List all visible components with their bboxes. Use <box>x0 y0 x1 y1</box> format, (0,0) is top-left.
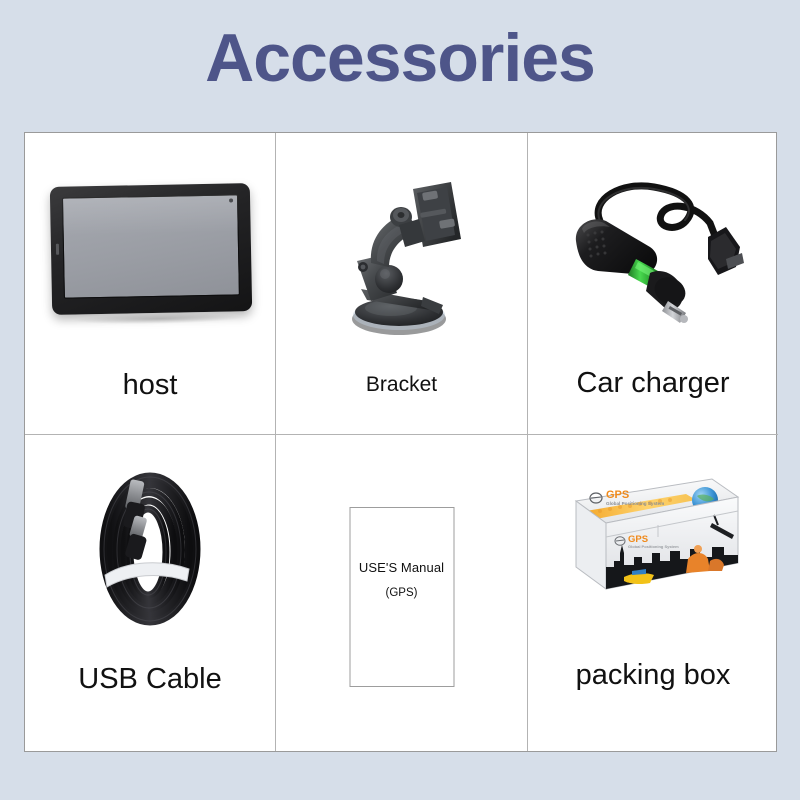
svg-text:Global Positioning System: Global Positioning System <box>606 501 664 506</box>
page-title: Accessories <box>0 24 800 92</box>
accessory-label-car-charger: Car charger <box>528 367 778 400</box>
suction-cup-mount-icon <box>327 169 477 349</box>
accessory-label-packing-box: packing box <box>528 659 778 692</box>
accessory-label-host: host <box>25 369 275 402</box>
manual-image: USE'S Manual (GPS) <box>276 435 527 751</box>
svg-text:GPS: GPS <box>606 489 629 501</box>
car-charger-icon <box>558 163 748 323</box>
packing-box-image: GPS Global Positioning System GPS Global… <box>528 435 778 751</box>
accessory-cell-bracket[interactable]: Bracket <box>276 133 528 435</box>
coiled-usb-cable-icon <box>65 457 235 637</box>
manual-sheet: USE'S Manual (GPS) <box>349 507 454 687</box>
accessory-cell-manual[interactable]: USE'S Manual (GPS) <box>276 435 528 751</box>
usb-cable-image <box>25 435 275 751</box>
accessory-grid: host <box>24 132 777 752</box>
svg-text:Global Positioning System: Global Positioning System <box>628 544 679 549</box>
accessory-cell-usb-cable[interactable]: USB Cable <box>25 435 276 751</box>
accessory-cell-car-charger[interactable]: Car charger <box>528 133 778 435</box>
retail-packing-box-icon: GPS Global Positioning System GPS Global… <box>562 467 744 607</box>
accessory-label-bracket: Bracket <box>276 373 527 397</box>
manual-subtitle: (GPS) <box>386 587 418 599</box>
accessory-cell-host[interactable]: host <box>25 133 276 435</box>
accessory-cell-packing-box[interactable]: GPS Global Positioning System GPS Global… <box>528 435 778 751</box>
accessory-label-usb-cable: USB Cable <box>25 663 275 696</box>
manual-title: USE'S Manual <box>359 560 444 575</box>
